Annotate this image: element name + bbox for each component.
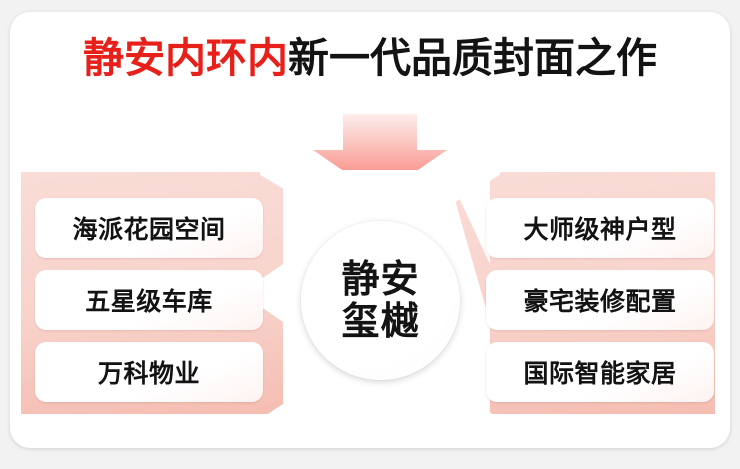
feature-label: 国际智能家居 <box>523 354 676 390</box>
poster-card: 静安内环内新一代品质封面之作 海派花园空间 五星级车库 万科物业 <box>10 12 730 448</box>
feature-label: 大师级神户型 <box>523 210 676 246</box>
list-item[interactable]: 万科物业 <box>35 342 263 402</box>
headline-black-segment: 新一代品质封面之作 <box>288 34 657 82</box>
feature-label: 五星级车库 <box>85 282 213 318</box>
brand-badge: 静安 玺樾 <box>301 221 460 380</box>
feature-label: 海派花园空间 <box>72 210 225 246</box>
feature-label: 豪宅装修配置 <box>523 282 676 318</box>
headline-red-segment: 静安内环内 <box>83 34 288 82</box>
feature-label: 万科物业 <box>98 354 200 390</box>
brand-line-2: 玺樾 <box>341 301 419 342</box>
list-item[interactable]: 大师级神户型 <box>486 198 714 258</box>
list-item[interactable]: 五星级车库 <box>35 270 263 330</box>
list-item[interactable]: 国际智能家居 <box>486 342 714 402</box>
page-title: 静安内环内新一代品质封面之作 <box>10 38 730 79</box>
list-item[interactable]: 海派花园空间 <box>35 198 263 258</box>
list-item[interactable]: 豪宅装修配置 <box>486 270 714 330</box>
brand-line-1: 静安 <box>341 259 419 300</box>
